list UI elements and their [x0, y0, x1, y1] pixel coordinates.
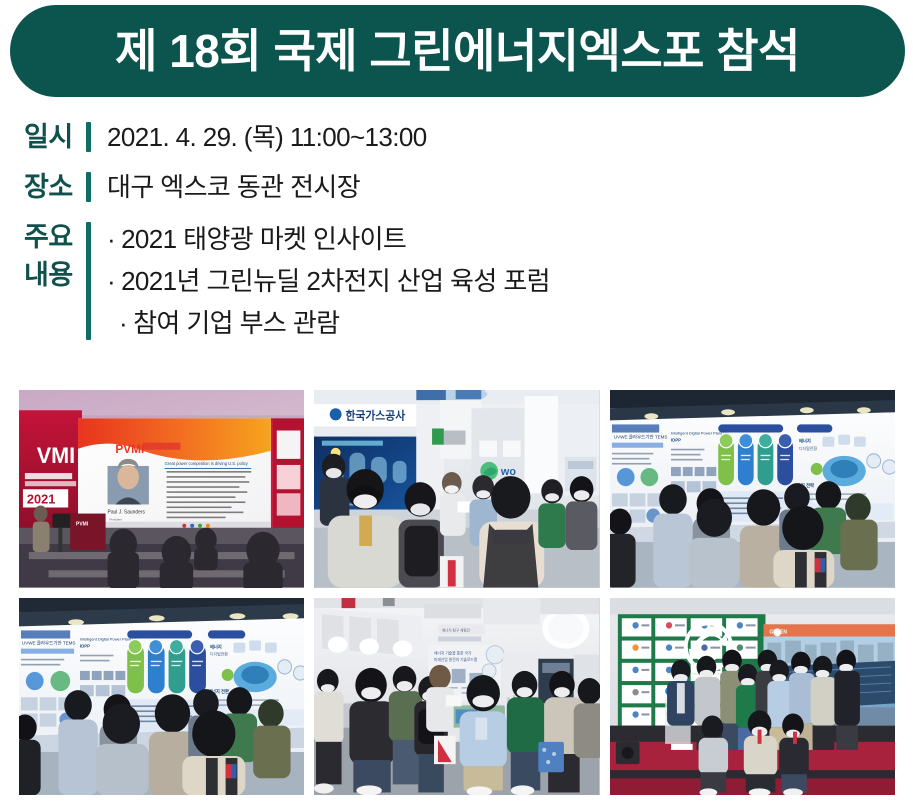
photo-gas-corporation-booth: 한국가스공사	[314, 390, 599, 588]
info-label-date: 일시	[24, 118, 86, 156]
svg-text:PVMI: PVMI	[115, 442, 144, 456]
page-title: 제 18회 국제 그린에너지엑스포 참석	[115, 28, 800, 74]
svg-text:IDPP: IDPP	[80, 643, 90, 648]
info-separator-place	[86, 172, 91, 202]
photo-exhibition-panel-wall-wide: UVWE 클라우드기반 TEMS Intelligent Digital Pow…	[19, 598, 304, 796]
photo-4-image: UVWE 클라우드기반 TEMS Intelligent Digital Pow…	[19, 598, 304, 796]
photo-6-image: International Green Energy Expo GREEN	[610, 598, 895, 796]
list-item: ·2021 태양광 마켓 인사이트	[107, 218, 884, 260]
svg-text:에너지: 에너지	[799, 438, 811, 445]
svg-text:에너지 탐구 체험관: 에너지 탐구 체험관	[442, 627, 471, 632]
bullet-icon: ·	[119, 302, 127, 344]
list-item-label: 2021년 그린뉴딜 2차전지 산업 육성 포럼	[121, 266, 550, 296]
svg-text:UVWE 클라우드기반 TEMS: UVWE 클라우드기반 TEMS	[22, 639, 75, 646]
info-separator-date	[86, 122, 91, 152]
info-label-contents: 주요 내용	[24, 218, 86, 294]
svg-text:에너지: 에너지	[210, 643, 222, 650]
info-row-contents: 주요 내용 ·2021 태양광 마켓 인사이트 ·2021년 그린뉴딜 2차전지…	[24, 218, 884, 344]
svg-text:2021: 2021	[27, 491, 55, 506]
photo-2-image: 한국가스공사	[314, 390, 599, 588]
info-row-date: 일시 2021. 4. 29. (목) 11:00~13:00	[24, 118, 884, 156]
svg-text:VMI: VMI	[37, 443, 75, 468]
contents-bullet-list: ·2021 태양광 마켓 인사이트 ·2021년 그린뉴딜 2차전지 산업 육성…	[107, 218, 884, 344]
svg-text:디지털전환: 디지털전환	[210, 650, 228, 656]
photo-white-booth-interior: 에너지 탐구 체험관 에너지 기술을 통한 국가 미래산업 발전의 기술로드맵	[314, 598, 599, 796]
svg-text:PVMI: PVMI	[76, 522, 89, 528]
info-value-date: 2021. 4. 29. (목) 11:00~13:00	[107, 118, 884, 156]
bullet-icon: ·	[107, 260, 115, 302]
info-separator-contents	[86, 222, 91, 340]
header-banner: 제 18회 국제 그린에너지엑스포 참석	[10, 5, 905, 97]
list-item: ·참여 기업 부스 관람	[107, 302, 884, 344]
svg-text:President: President	[110, 518, 123, 522]
event-info-block: 일시 2021. 4. 29. (목) 11:00~13:00 장소 대구 엑스…	[24, 118, 884, 344]
svg-text:Paul J. Saunders: Paul J. Saunders	[108, 510, 146, 516]
svg-text:한국가스공사: 한국가스공사	[346, 408, 407, 422]
svg-text:IDPP: IDPP	[671, 438, 681, 443]
photo-conference-hall: PVMI Paul J. Saunders President Energy I…	[19, 390, 304, 588]
photo-exhibition-panel-wall: UVWE 클라우드기반 TEMS Intelligent Digital Pow…	[610, 390, 895, 588]
info-value-contents: ·2021 태양광 마켓 인사이트 ·2021년 그린뉴딜 2차전지 산업 육성…	[107, 218, 884, 344]
list-item-label: 2021 태양광 마켓 인사이트	[121, 224, 406, 254]
svg-text:디지털전환: 디지털전환	[799, 445, 817, 451]
info-value-place: 대구 엑스코 동관 전시장	[107, 168, 884, 206]
info-label-place: 장소	[24, 168, 86, 206]
bullet-icon: ·	[107, 218, 115, 260]
photo-3-image: UVWE 클라우드기반 TEMS Intelligent Digital Pow…	[610, 390, 895, 588]
svg-text:Great power competition is dri: Great power competition is driving U.S. …	[165, 461, 249, 466]
svg-text:에너지 기술을 통한 국가: 에너지 기술을 통한 국가	[434, 650, 472, 655]
list-item-label: 참여 기업 부스 관람	[133, 308, 339, 338]
photo-group-stage: International Green Energy Expo GREEN	[610, 598, 895, 796]
photo-1-image: PVMI Paul J. Saunders President Energy I…	[19, 390, 304, 588]
svg-text:UVWE 클라우드기반 TEMS: UVWE 클라우드기반 TEMS	[614, 434, 667, 441]
photo-5-image: 에너지 탐구 체험관 에너지 기술을 통한 국가 미래산업 발전의 기술로드맵	[314, 598, 599, 796]
photo-gallery: PVMI Paul J. Saunders President Energy I…	[19, 390, 895, 795]
info-row-place: 장소 대구 엑스코 동관 전시장	[24, 168, 884, 206]
list-item: ·2021년 그린뉴딜 2차전지 산업 육성 포럼	[107, 260, 884, 302]
svg-text:미래산업 발전의 기술로드맵: 미래산업 발전의 기술로드맵	[434, 656, 478, 661]
